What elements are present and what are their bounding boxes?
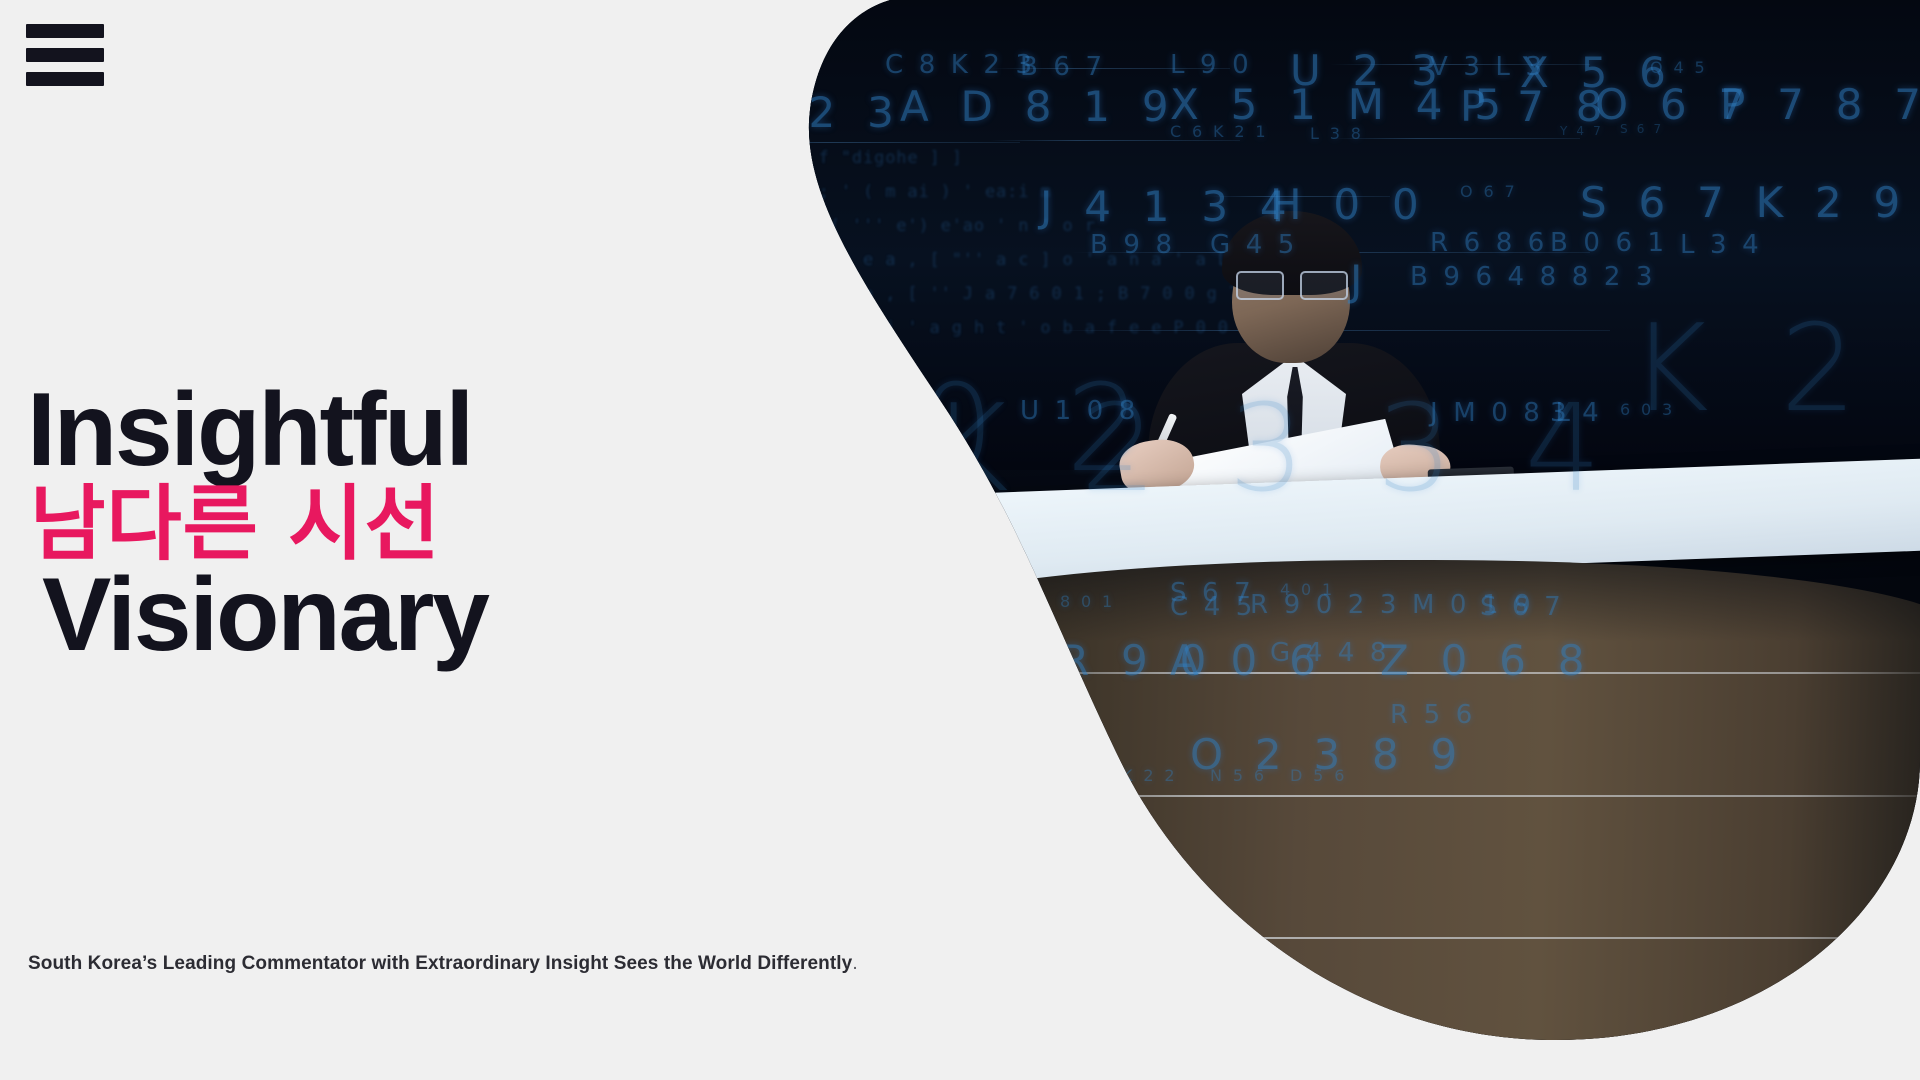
hero-subtitle: South Korea’s Leading Commentator with E… (28, 950, 908, 978)
headline-line-visionary: Visionary (0, 567, 780, 665)
headline-line-korean: 남다른 시선 (0, 486, 780, 563)
subtitle-period: . (852, 953, 857, 974)
code-label: J 7 6 (940, 738, 1015, 768)
hero-page: ( ae nt f "digohe ] ] l ae g i; ' ( m ai… (0, 0, 1920, 1080)
studio-desk-front-panel (860, 560, 1920, 1040)
code-label: M 4 5 (970, 638, 1060, 668)
headline-line-insightful: Insightful (0, 382, 780, 480)
code-label: G 4 5 (800, 398, 888, 428)
hamburger-bar-1 (26, 24, 104, 38)
studio-photo: ( ae nt f "digohe ] ] l ae g i; ' ( m ai… (690, 0, 1920, 1040)
code-label: N 5 9 (960, 768, 1017, 787)
hamburger-bar-3 (26, 72, 104, 86)
hero-headline: Insightful 남다른 시선 Visionary (0, 382, 780, 665)
glasses-icon (1234, 271, 1350, 297)
hamburger-bar-2 (26, 48, 104, 62)
hamburger-menu-button[interactable] (26, 24, 104, 86)
subtitle-text: South Korea’s Leading Commentator with E… (28, 953, 852, 974)
hero-media-blob: ( ae nt f "digohe ] ] l ae g i; ' ( m ai… (690, 0, 1920, 1040)
